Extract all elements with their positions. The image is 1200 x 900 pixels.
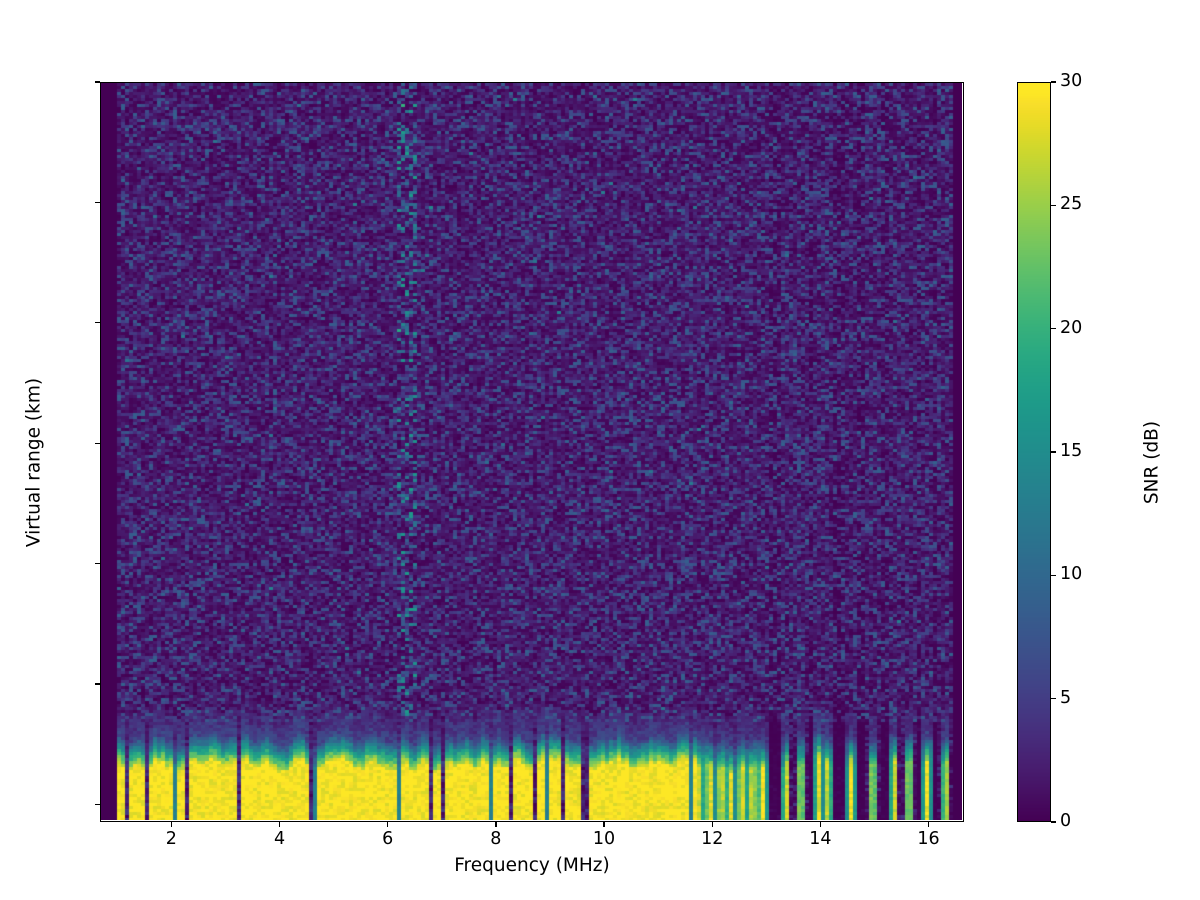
x-tick-label: 2 xyxy=(166,831,177,849)
colorbar-tick-label: 0 xyxy=(1060,813,1071,831)
x-tick-label: 10 xyxy=(593,831,615,849)
x-tick-label: 16 xyxy=(917,831,939,849)
colorbar-tick-label: 30 xyxy=(1060,73,1082,91)
colorbar-tick-label: 5 xyxy=(1060,690,1071,708)
colorbar-tick-mark xyxy=(1051,698,1056,699)
colorbar-tick-label: 25 xyxy=(1060,196,1082,214)
x-tick-mark xyxy=(820,822,821,827)
colorbar-tick-mark xyxy=(1051,575,1056,576)
x-tick-mark xyxy=(279,822,280,827)
x-tick-mark xyxy=(712,822,713,827)
colorbar-tick-mark xyxy=(1051,81,1056,82)
colorbar-tick-mark xyxy=(1051,821,1056,822)
colorbar-tick-mark xyxy=(1051,328,1056,329)
colorbar xyxy=(1017,82,1051,822)
x-tick-label: 4 xyxy=(274,831,285,849)
colorbar-tick-label: 15 xyxy=(1060,443,1082,461)
colorbar-tick-label: 20 xyxy=(1060,320,1082,338)
x-tick-label: 12 xyxy=(701,831,723,849)
colorbar-label: SNR (dB) xyxy=(1142,333,1163,593)
y-axis-label: Virtual range (km) xyxy=(24,333,45,593)
x-tick-mark xyxy=(495,822,496,827)
colorbar-tick-label: 10 xyxy=(1060,566,1082,584)
colorbar-gradient xyxy=(1018,83,1050,821)
x-tick-mark xyxy=(387,822,388,827)
ionogram-figure: IRF Kiruna Ionosonde KI167 2025-11-07 14… xyxy=(0,0,1200,900)
colorbar-tick-mark xyxy=(1051,451,1056,452)
x-axis-label: Frequency (MHz) xyxy=(100,855,964,876)
x-tick-mark xyxy=(928,822,929,827)
x-tick-mark xyxy=(171,822,172,827)
x-tick-label: 8 xyxy=(490,831,501,849)
x-tick-label: 6 xyxy=(382,831,393,849)
x-tick-label: 14 xyxy=(809,831,831,849)
x-tick-mark xyxy=(603,822,604,827)
colorbar-tick-mark xyxy=(1051,205,1056,206)
